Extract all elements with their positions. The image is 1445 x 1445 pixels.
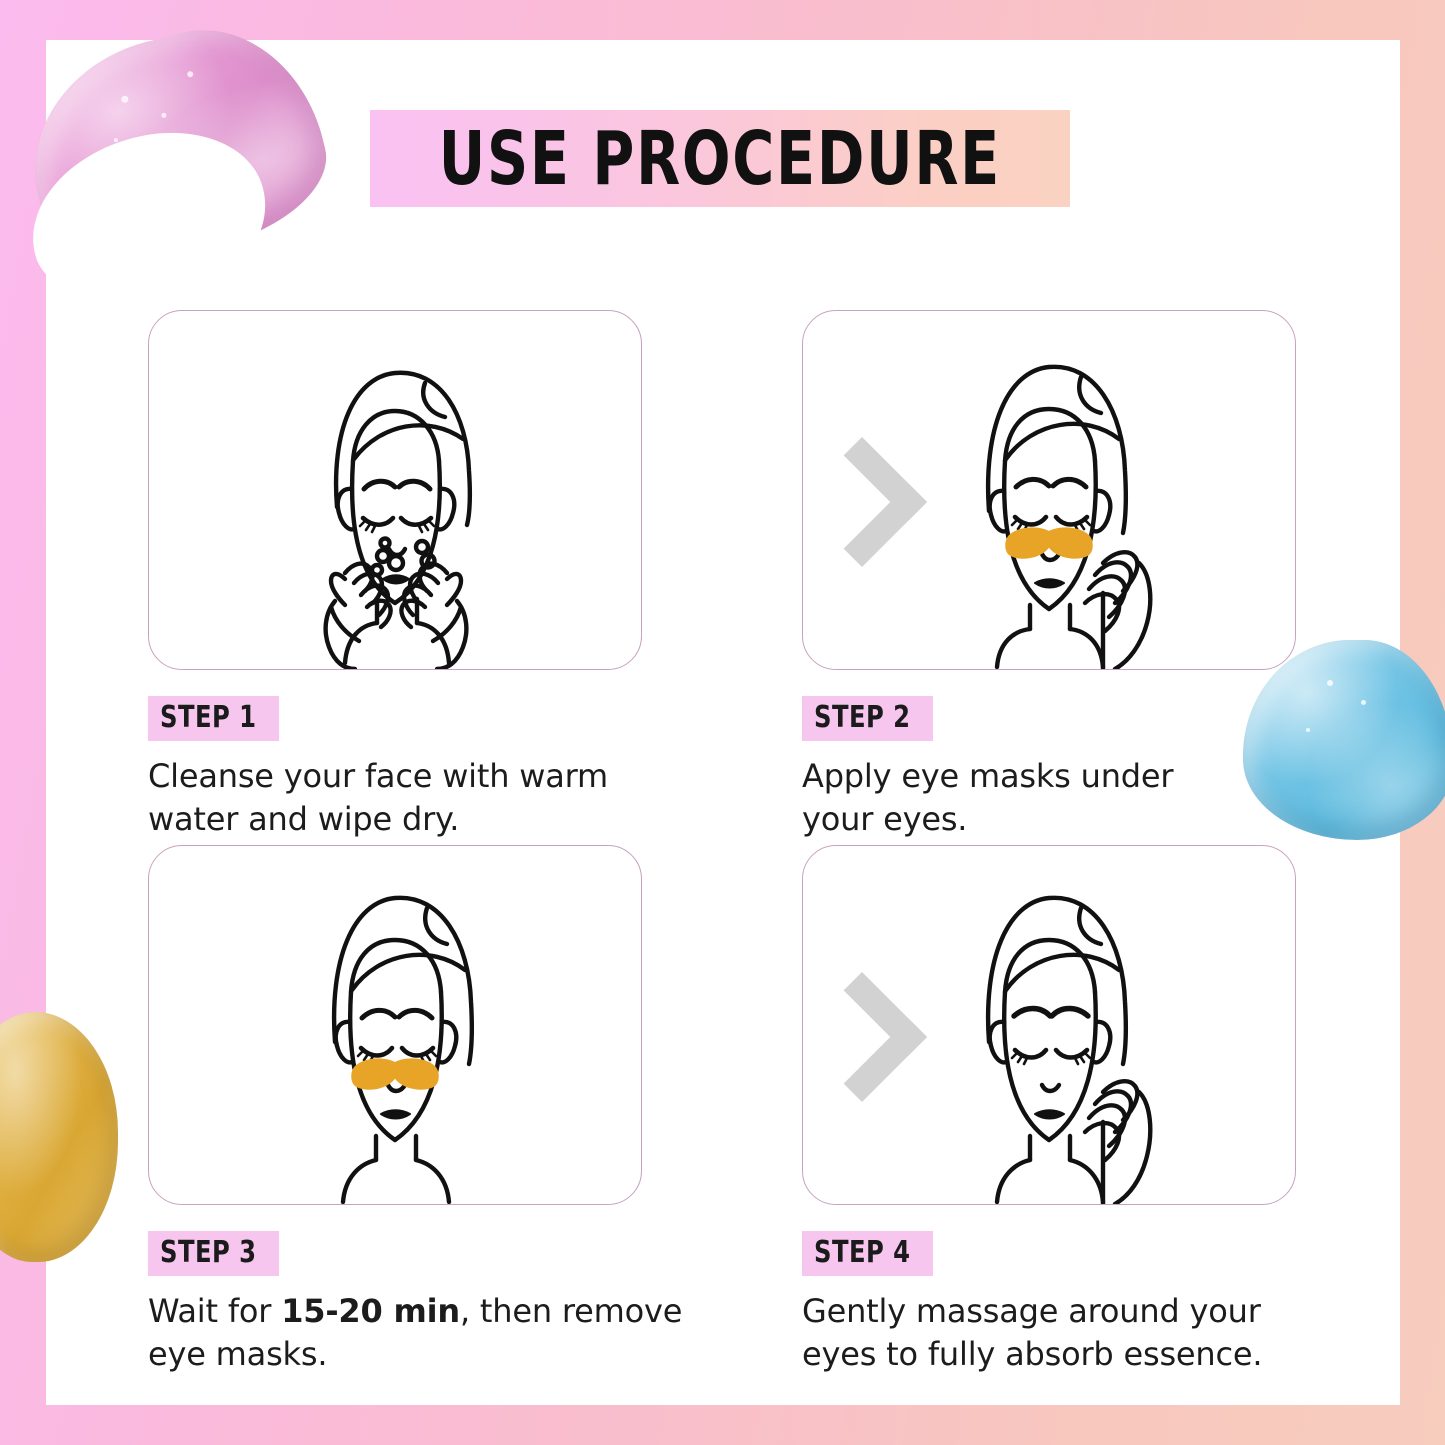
step-4-badge-label: STEP 4 [814, 1235, 911, 1270]
step-3-badge: STEP 3 [148, 1231, 279, 1276]
step-1-badge-label: STEP 1 [160, 700, 257, 735]
poster: USE PROCEDURE [0, 0, 1445, 1445]
steps-grid: STEP 1 Cleanse your face with warm water… [148, 310, 1288, 1380]
page-title-badge: USE PROCEDURE [370, 110, 1070, 207]
step-1-description: Cleanse your face with warm water and wi… [148, 755, 640, 841]
step-card-4: STEP 4 Gently massage around your eyes t… [802, 845, 1294, 1376]
step-1-badge: STEP 1 [148, 696, 279, 741]
step-2-badge-label: STEP 2 [814, 700, 911, 735]
face-waiting-with-eye-masks-icon [149, 846, 641, 1204]
step-3-text-before: Wait for [148, 1292, 281, 1330]
chevron-right-icon-top [806, 450, 902, 562]
step-2-description: Apply eye masks under your eyes. [802, 755, 1294, 841]
step-2-badge: STEP 2 [802, 696, 933, 741]
page-title: USE PROCEDURE [439, 122, 1001, 196]
step-1-illustration-card [148, 310, 642, 670]
step-card-3: STEP 3 Wait for 15-20 min, then remove e… [148, 845, 640, 1376]
step-3-illustration-card [148, 845, 642, 1205]
eye-patch-shapes [351, 1058, 439, 1089]
eye-patch-shapes [1005, 527, 1093, 558]
face-washing-with-bubbles-icon [149, 311, 641, 669]
step-card-2: STEP 2 Apply eye masks under your eyes. [802, 310, 1294, 841]
step-card-1: STEP 1 Cleanse your face with warm water… [148, 310, 640, 841]
step-3-description: Wait for 15-20 min, then remove eye mask… [148, 1290, 708, 1376]
step-4-description: Gently massage around your eyes to fully… [802, 1290, 1294, 1376]
step-3-badge-label: STEP 3 [160, 1235, 257, 1270]
chevron-right-icon-bottom [806, 985, 902, 1097]
step-4-badge: STEP 4 [802, 1231, 933, 1276]
step-3-duration: 15-20 min [281, 1292, 460, 1330]
